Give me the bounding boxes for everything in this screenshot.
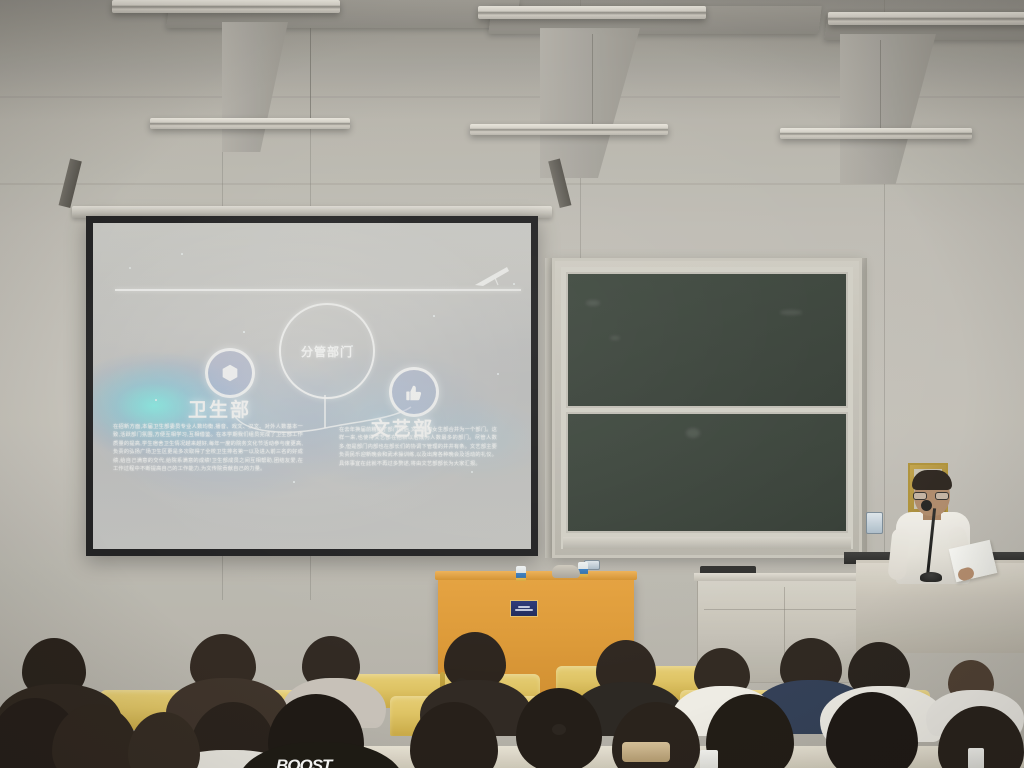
department-body-health: 在招新方面,本届卫生部委员专业人数均衡,播音、戏文、汉文、对外人数基本一致,活跃… <box>113 423 303 473</box>
slide-star <box>129 267 131 269</box>
chalk-smudge <box>586 300 600 306</box>
slide-center-node: 分管部门 <box>279 303 375 399</box>
plaque-line <box>518 606 530 608</box>
ceiling-light-front-2 <box>470 124 668 135</box>
microphone-base <box>920 572 942 582</box>
light-wire-1 <box>310 28 311 120</box>
audience-seating: BOOST <box>0 646 1024 768</box>
department-label-health: 卫生部 <box>188 395 251 422</box>
cloth-bag <box>552 565 580 578</box>
chalk-smudge <box>780 310 802 315</box>
av-cabinet-seam-h <box>704 609 868 610</box>
water-bottle-audience[interactable] <box>968 748 984 768</box>
chalk-smudge <box>610 336 620 340</box>
department-body-arts: 在去年换届前精简了部门以后,文艺部和女生部合并为一个部门。这样一来,也使得文艺部… <box>339 426 497 468</box>
presenter <box>880 468 1000 608</box>
paper-cup[interactable] <box>700 750 718 768</box>
ceiling-light-back-3 <box>828 12 1024 25</box>
glasses-lens-left <box>913 492 927 500</box>
hair-tie <box>552 724 566 735</box>
shirt-graphic-text: BOOST <box>276 756 331 768</box>
slide-star <box>433 315 435 317</box>
plaque-line <box>515 609 533 611</box>
projection-screen[interactable]: 分管部门 卫生部 在招新方面,本届卫生部委员专业人数均衡,播音、戏文、汉文、对外… <box>86 216 538 556</box>
ceiling-light-front-1 <box>150 118 350 129</box>
water-bottle-left[interactable] <box>516 566 526 581</box>
slide-star <box>293 481 295 483</box>
screen-surface: 分管部门 卫生部 在招新方面,本届卫生部委员专业人数均衡,播音、戏文、汉文、对外… <box>93 223 531 549</box>
presenter-hair <box>912 470 952 490</box>
lectern-top-surface <box>435 571 637 580</box>
blackboard <box>552 258 862 558</box>
slide-star <box>155 399 157 401</box>
light-wire-3 <box>880 40 881 132</box>
eyeglasses-icon <box>913 492 951 500</box>
chalk-tray <box>563 537 851 549</box>
blackboard-panel-upper[interactable] <box>566 272 848 408</box>
slide-star <box>513 283 515 285</box>
thumbs-up-icon <box>389 367 439 417</box>
ceiling-light-front-3 <box>780 128 972 139</box>
ceiling-light-back-2 <box>478 6 706 19</box>
slide-star <box>181 253 183 255</box>
hexagon-icon <box>205 348 255 398</box>
slide-star <box>243 331 245 333</box>
chalk-smudge <box>686 428 700 438</box>
slide-star <box>471 471 473 473</box>
slide-center-node-label: 分管部门 <box>301 343 353 360</box>
ceiling-light-back-1 <box>112 0 340 13</box>
snack-pack <box>622 742 670 762</box>
slide-star <box>497 373 499 375</box>
presentation-slide: 分管部门 卫生部 在招新方面,本届卫生部委员专业人数均衡,播音、戏文、汉文、对外… <box>93 223 531 549</box>
lecture-hall-photo: 分管部门 卫生部 在招新方面,本届卫生部委员专业人数均衡,播音、戏文、汉文、对外… <box>0 0 1024 768</box>
av-cabinet-top <box>694 573 878 581</box>
glasses-lens-right <box>935 492 949 500</box>
blackboard-panel-lower[interactable] <box>566 412 848 533</box>
light-wire-2 <box>592 34 593 126</box>
airplane-swoosh-icon <box>473 265 513 287</box>
slide-divider-rule <box>115 289 521 291</box>
blackboard-frame <box>561 267 853 549</box>
lectern-plaque <box>510 600 538 617</box>
microphone-head-icon <box>921 500 932 511</box>
